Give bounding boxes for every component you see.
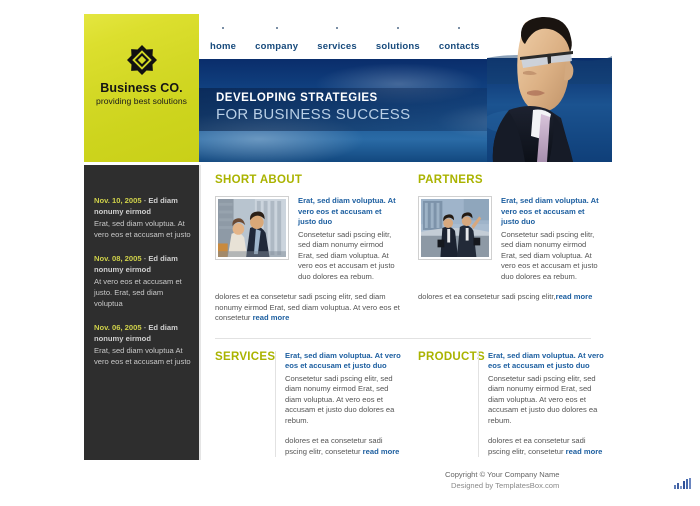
services-read-more-link[interactable]: read more (363, 447, 400, 456)
site-header: Business CO. providing best solutions ho… (84, 14, 612, 162)
news-item[interactable]: Nov. 10, 2005 - Ed diam nonumy eirmod Er… (94, 195, 191, 240)
hero-businessman-photo (487, 14, 612, 162)
main-content: SHORT ABOUT (199, 162, 612, 484)
news-body: Erat, sed diam voluptua At vero eos et a… (94, 345, 191, 367)
short-about-body2: dolores et ea consetetur sadi pscing eli… (215, 292, 400, 324)
short-about-heading: SHORT ABOUT (215, 174, 400, 186)
partners-lede: Erat, sed diam voluptua. At vero eos et … (501, 196, 603, 228)
site-footer: Copyright © Your Company Name Designed b… (199, 466, 612, 506)
partners-thumbnail[interactable] (418, 196, 492, 260)
news-body: At vero eos et accusam et justo. Erat, s… (94, 276, 191, 309)
short-about-media: Erat, sed diam voluptua. At vero eos et … (215, 196, 400, 282)
products-text: Erat, sed diam voluptua. At vero eos et … (478, 351, 604, 458)
products-lede: Erat, sed diam voluptua. At vero eos et … (488, 351, 604, 372)
hero-text: DEVELOPING STRATEGIES FOR BUSINESS SUCCE… (216, 92, 410, 123)
hero-subheadline: FOR BUSINESS SUCCESS (216, 106, 410, 123)
content-divider (215, 338, 591, 339)
brand-name: Business CO. (100, 81, 182, 95)
news-date: Nov. 06, 2005 (94, 323, 142, 332)
section-partners: PARTNERS (418, 174, 603, 324)
partners-heading: PARTNERS (418, 174, 603, 186)
partners-body: Consetetur sadi pscing elitr, sed diam n… (501, 230, 603, 283)
partners-body2: dolores et ea consetetur sadi pscing eli… (418, 292, 603, 303)
news-date-line: Nov. 06, 2005 - Ed diam nonumy eirmod (94, 322, 191, 344)
news-date-line: Nov. 08, 2005 - Ed diam nonumy eirmod (94, 253, 191, 275)
brand-tagline: providing best solutions (96, 96, 187, 106)
partners-read-more-link[interactable]: read more (556, 292, 593, 301)
footer-designed-by[interactable]: Designed by TemplatesBox.com (445, 480, 560, 491)
hero-headline: DEVELOPING STRATEGIES (216, 92, 410, 105)
nav-item-company[interactable]: company (255, 14, 298, 52)
services-text: Erat, sed diam voluptua. At vero eos et … (275, 351, 401, 458)
news-date-line: Nov. 10, 2005 - Ed diam nonumy eirmod (94, 195, 191, 217)
nav-item-contacts[interactable]: contacts (439, 14, 480, 52)
nav-item-solutions[interactable]: solutions (376, 14, 420, 52)
page-body: Nov. 10, 2005 - Ed diam nonumy eirmod Er… (84, 162, 612, 484)
products-body: Consetetur sadi pscing elitr, sed diam n… (488, 374, 604, 427)
short-about-body2-text: dolores et ea consetetur sadi pscing eli… (215, 292, 400, 322)
nav-item-home[interactable]: home (210, 14, 236, 52)
bar-chart-logo-icon[interactable] (674, 476, 694, 494)
services-body: Consetetur sadi pscing elitr, sed diam n… (285, 374, 401, 427)
site-page: Business CO. providing best solutions ho… (84, 14, 612, 484)
short-about-read-more-link[interactable]: read more (253, 313, 290, 322)
news-item[interactable]: Nov. 08, 2005 - Ed diam nonumy eirmod At… (94, 253, 191, 309)
top-sections-row: SHORT ABOUT (215, 174, 604, 324)
header-right: home company services solutions contacts… (199, 14, 612, 162)
partners-text: Erat, sed diam voluptua. At vero eos et … (501, 196, 603, 282)
footer-copyright: Copyright © Your Company Name (445, 469, 560, 480)
footer-copyright-block: Copyright © Your Company Name Designed b… (445, 469, 560, 491)
nav-item-services[interactable]: services (317, 14, 357, 52)
news-sidebar: Nov. 10, 2005 - Ed diam nonumy eirmod Er… (84, 165, 199, 460)
partners-body2-text: dolores et ea consetetur sadi pscing eli… (418, 292, 556, 301)
logo-panel[interactable]: Business CO. providing best solutions (84, 14, 199, 162)
section-services: SERVICES Erat, sed diam voluptua. At ver… (215, 351, 401, 458)
services-heading: SERVICES (215, 351, 275, 458)
short-about-thumbnail[interactable] (215, 196, 289, 260)
short-about-text: Erat, sed diam voluptua. At vero eos et … (298, 196, 400, 282)
section-short-about: SHORT ABOUT (215, 174, 400, 324)
news-body: Erat, sed diam voluptua. At vero eos et … (94, 218, 191, 240)
octagram-star-icon (127, 45, 157, 75)
news-date: Nov. 08, 2005 (94, 254, 142, 263)
services-body2: dolores et ea consetetur sadi pscing eli… (285, 436, 401, 457)
bottom-sections-row: SERVICES Erat, sed diam voluptua. At ver… (215, 351, 604, 458)
services-lede: Erat, sed diam voluptua. At vero eos et … (285, 351, 401, 372)
news-item[interactable]: Nov. 06, 2005 - Ed diam nonumy eirmod Er… (94, 322, 191, 367)
short-about-lede: Erat, sed diam voluptua. At vero eos et … (298, 196, 400, 228)
news-date: Nov. 10, 2005 (94, 196, 142, 205)
short-about-body: Consetetur sadi pscing elitr, sed diam n… (298, 230, 400, 283)
products-read-more-link[interactable]: read more (566, 447, 603, 456)
products-heading: PRODUCTS (418, 351, 478, 458)
partners-media: Erat, sed diam voluptua. At vero eos et … (418, 196, 603, 282)
products-body2: dolores et ea consetetur sadi pscing eli… (488, 436, 604, 457)
section-products: PRODUCTS Erat, sed diam voluptua. At ver… (418, 351, 604, 458)
